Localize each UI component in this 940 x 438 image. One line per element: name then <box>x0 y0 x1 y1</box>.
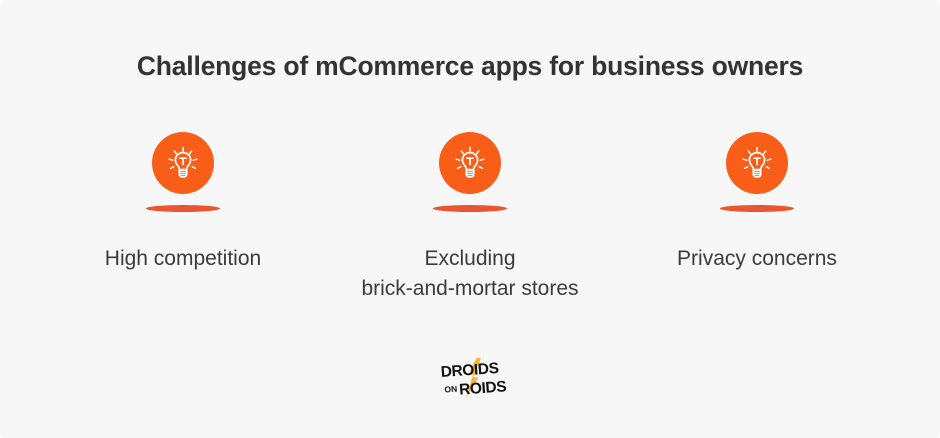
challenge-caption-2: Excluding brick-and-mortar stores <box>361 244 578 304</box>
icon-shadow-2 <box>433 205 507 212</box>
lightbulb-icon <box>740 146 774 180</box>
icon-shadow-3 <box>720 205 794 212</box>
lightbulb-icon-badge-1 <box>152 132 214 194</box>
logo-line-2: ROIDS <box>459 378 507 398</box>
infographic-canvas: Challenges of mCommerce apps for busines… <box>0 0 940 438</box>
challenge-item-3: Privacy concerns <box>614 132 900 274</box>
droids-on-roids-logo: DROIDS ON ROIDS <box>431 358 509 398</box>
challenge-caption-1: High competition <box>105 244 261 274</box>
page-title: Challenges of mCommerce apps for busines… <box>0 49 940 83</box>
lightbulb-icon-badge-2 <box>439 132 501 194</box>
challenge-caption-3: Privacy concerns <box>677 244 837 274</box>
logo-line-2-small: ON <box>444 384 457 395</box>
logo-line-1: DROIDS <box>440 360 499 381</box>
lightbulb-icon-badge-3 <box>726 132 788 194</box>
challenge-item-2: Excluding brick-and-mortar stores <box>327 132 613 304</box>
icon-shadow-1 <box>146 205 220 212</box>
challenges-list: High competition <box>40 132 900 304</box>
lightbulb-icon <box>453 146 487 180</box>
lightbulb-icon <box>166 146 200 180</box>
challenge-item-1: High competition <box>40 132 326 274</box>
brand-logo: DROIDS ON ROIDS <box>0 358 940 398</box>
